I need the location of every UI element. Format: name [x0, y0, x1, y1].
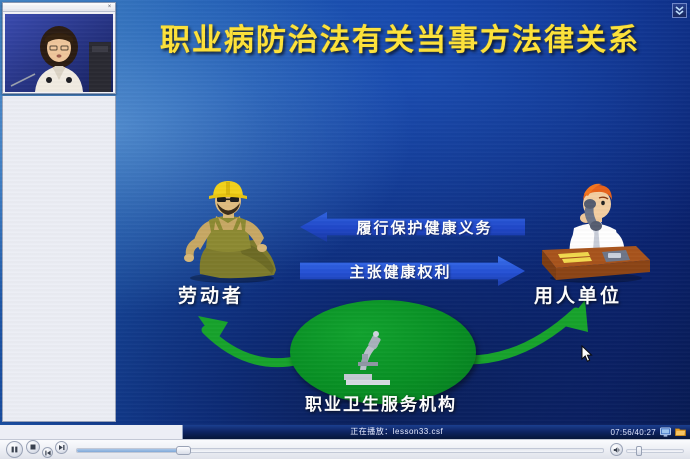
close-icon[interactable]: ×: [106, 4, 113, 11]
worker-illustration: [176, 178, 286, 283]
node-label-agency: 职业卫生服务机构: [305, 390, 457, 415]
arrow-duty: 履行保护健康义务: [300, 212, 525, 242]
node-label-worker: 劳动者: [178, 281, 244, 308]
mouse-cursor: [581, 345, 593, 363]
media-player-window: 职业病防治法有关当事方法律关系: [0, 0, 690, 459]
node-label-employer: 用人单位: [534, 281, 622, 308]
arrow-rights-label: 主张健康权利: [300, 256, 525, 286]
time-display: 07:56/40:27: [610, 428, 656, 437]
seek-thumb[interactable]: [176, 446, 191, 455]
volume-thumb[interactable]: [636, 446, 642, 456]
status-bar-center: 正在播放：lesson33.csf: [183, 425, 610, 439]
instructor-video-feed[interactable]: [5, 14, 113, 92]
now-playing-text: 正在播放：lesson33.csf: [350, 425, 443, 439]
arrow-duty-label: 履行保护健康义务: [300, 212, 525, 242]
player-controls: [0, 439, 690, 459]
status-bar: 正在播放：lesson33.csf 07:56/40:27: [0, 425, 690, 439]
arrow-rights: 主张健康权利: [300, 256, 525, 286]
seek-progress-fill: [77, 449, 177, 452]
stop-button[interactable]: [26, 440, 40, 454]
next-button[interactable]: [55, 441, 68, 454]
video-panel-titlebar[interactable]: ×: [3, 3, 115, 12]
status-bar-left-spacer: [0, 425, 183, 439]
slide-canvas: 职业病防治法有关当事方法律关系: [0, 0, 690, 425]
volume-track[interactable]: [626, 449, 684, 453]
seek-bar[interactable]: [76, 440, 604, 459]
left-side-pane: [2, 96, 116, 422]
previous-button[interactable]: [42, 447, 53, 458]
folder-icon[interactable]: [675, 427, 686, 437]
status-bar-right: 07:56/40:27: [610, 425, 690, 439]
instructor-video-panel[interactable]: ×: [2, 2, 116, 94]
double-chevron-down-icon[interactable]: [672, 3, 687, 18]
microscope-icon: [338, 330, 400, 388]
screen-icon[interactable]: [660, 427, 671, 437]
slide-title: 职业病防治法有关当事方法律关系: [120, 20, 680, 62]
volume-slider[interactable]: [626, 440, 684, 459]
speaker-icon[interactable]: [610, 443, 623, 456]
employer-illustration: [540, 176, 652, 284]
pause-button[interactable]: [6, 441, 23, 458]
